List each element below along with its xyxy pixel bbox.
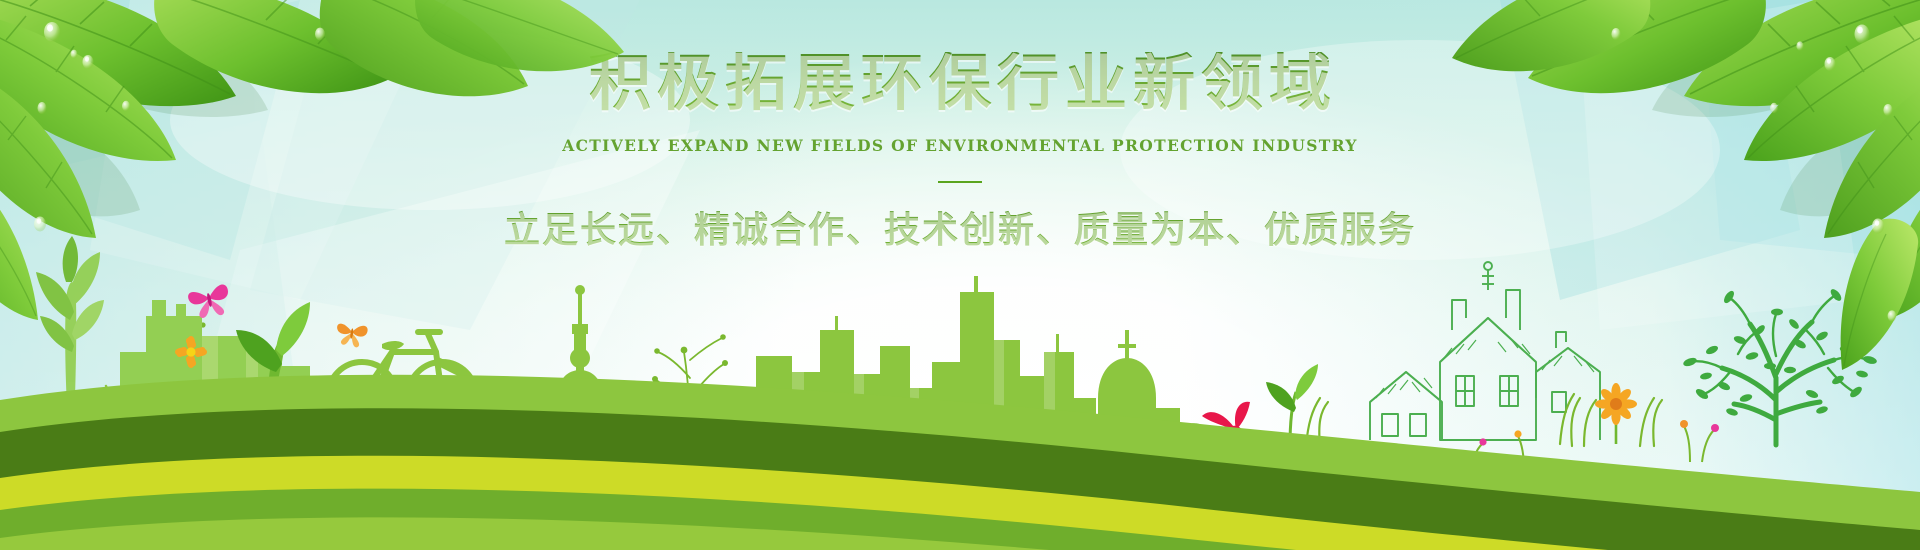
leaf-cluster-top-right [1452,0,1920,370]
leaf-cluster-top-left [0,0,624,320]
environmental-banner: 积极拓展环保行业新领域 ACTIVELY EXPAND NEW FIELDS O… [0,0,1920,550]
leaf-frame-layer [0,0,1920,550]
